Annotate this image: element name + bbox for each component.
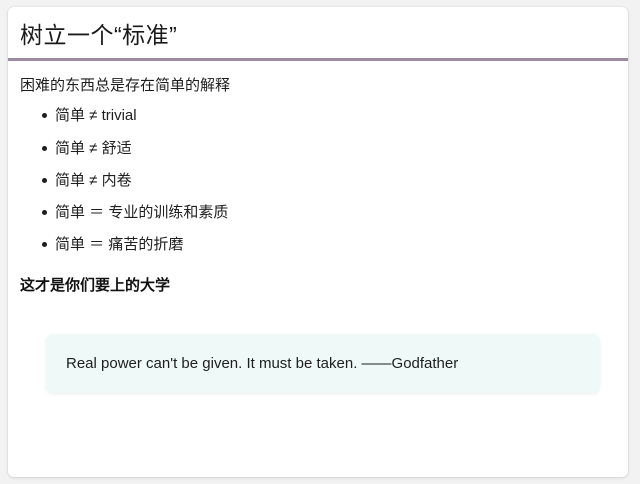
list-item-label: 简单 ≠ 内卷 bbox=[55, 172, 132, 189]
list-item: 简单 ≠ 内卷 bbox=[20, 169, 616, 192]
bullet-icon bbox=[42, 178, 47, 183]
list-item: 简单 ＝ 痛苦的折磨 bbox=[20, 233, 616, 256]
quote-text: Real power can't be given. It must be ta… bbox=[66, 353, 580, 374]
list-item: 简单 ≠ trivial bbox=[20, 104, 616, 127]
list-item-label: 简单 ≠ trivial bbox=[55, 107, 137, 124]
emphasis-text: 这才是你们要上的大学 bbox=[20, 273, 616, 299]
slide-card: 树立一个“标准” 困难的东西总是存在简单的解释 简单 ≠ trivial 简单 … bbox=[8, 7, 628, 477]
list-item: 简单 ≠ 舒适 bbox=[20, 137, 616, 160]
bullet-icon bbox=[42, 242, 47, 247]
point-list: 简单 ≠ trivial 简单 ≠ 舒适 简单 ≠ 内卷 简单 ＝ 专业的训练和… bbox=[20, 104, 616, 256]
list-item-label: 简单 ≠ 舒适 bbox=[55, 140, 132, 157]
list-item: 简单 ＝ 专业的训练和素质 bbox=[20, 201, 616, 224]
page-title: 树立一个“标准” bbox=[8, 7, 628, 58]
bullet-icon bbox=[42, 113, 47, 118]
list-item-label: 简单 ＝ 痛苦的折磨 bbox=[55, 236, 183, 253]
quote-callout: Real power can't be given. It must be ta… bbox=[46, 334, 600, 393]
bullet-icon bbox=[42, 210, 47, 215]
bullet-icon bbox=[42, 146, 47, 151]
list-item-label: 简单 ＝ 专业的训练和素质 bbox=[55, 204, 228, 221]
slide-content: 困难的东西总是存在简单的解释 简单 ≠ trivial 简单 ≠ 舒适 简单 ≠… bbox=[8, 61, 628, 393]
lead-paragraph: 困难的东西总是存在简单的解释 bbox=[20, 73, 616, 99]
